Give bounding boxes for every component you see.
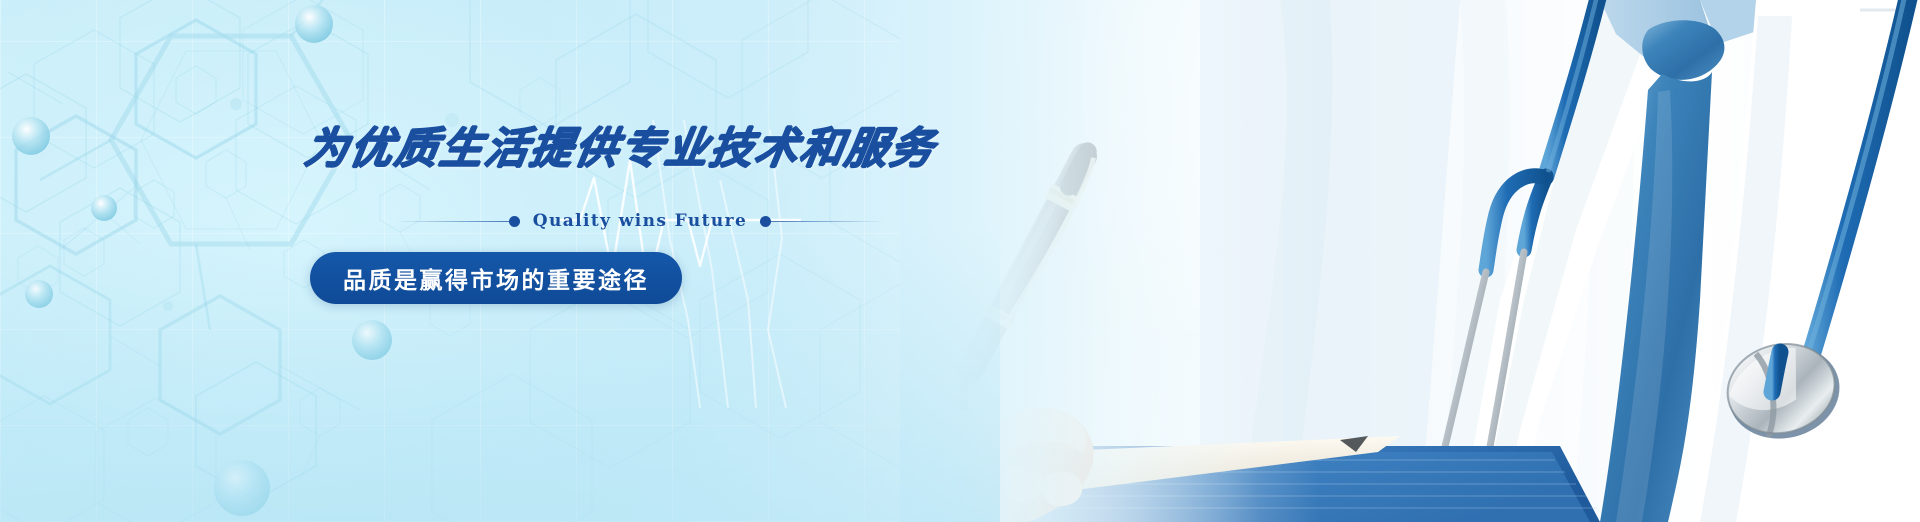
banner-copy: 为优质生活提供专业技术和服务 Quality wins Future 品质是赢得… bbox=[305, 128, 1005, 304]
subtitle-row: Quality wins Future bbox=[395, 211, 885, 231]
subtitle-rule-left bbox=[395, 221, 509, 222]
cta-button-label: 品质是赢得市场的重要途径 bbox=[343, 261, 649, 295]
doctor-photo bbox=[900, 0, 1920, 522]
subtitle-rule-right bbox=[771, 221, 885, 222]
subtitle-english: Quality wins Future bbox=[520, 211, 760, 231]
subtitle-dot-right bbox=[760, 216, 771, 227]
page-title: 为优质生活提供专业技术和服务 bbox=[302, 128, 1009, 171]
cta-button[interactable]: 品质是赢得市场的重要途径 bbox=[310, 252, 682, 304]
promo-banner: 为优质生活提供专业技术和服务 Quality wins Future 品质是赢得… bbox=[0, 0, 1920, 522]
subtitle-dot-left bbox=[509, 216, 520, 227]
